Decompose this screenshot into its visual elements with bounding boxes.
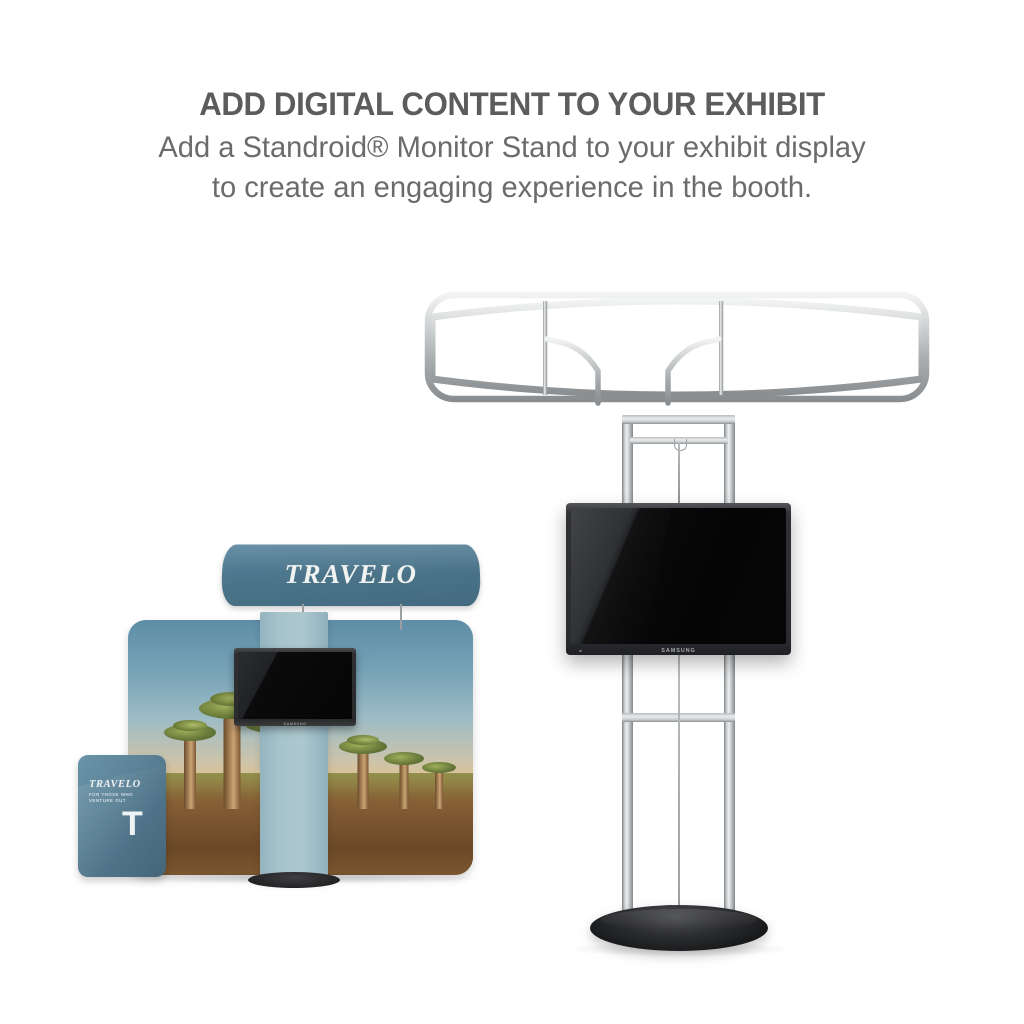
standroid-monitor-stand: SAMSUNG [418,275,938,965]
stand-oval-base [590,905,768,951]
cable-hook-icon [674,439,687,451]
stand-cable-upper [678,443,680,505]
header-frame [422,279,932,414]
booth-monitor: SAMSUNG [234,648,356,726]
booth-monitor-screen [238,652,352,719]
kiosk-tagline-line1: FOR THOSE WHO [89,792,133,797]
stand-post-right [724,415,735,915]
monitor-screen-glare [571,508,674,644]
booth-pillar-base [248,872,340,888]
monitor-screen [571,508,786,644]
stand-crossbar-top [622,415,735,424]
booth-header-sign-label: TRAVELO [284,559,418,590]
booth-monitor-brand-label: SAMSUNG [234,721,356,726]
booth-header-hanger-right [400,604,402,630]
monitor-brand-label: SAMSUNG [566,648,791,654]
kiosk-tagline: FOR THOSE WHO VENTURE OUT [89,792,155,805]
mounted-monitor: SAMSUNG [566,503,791,655]
booth-kiosk-panel: TRAVELO FOR THOSE WHO VENTURE OUT T [78,755,166,877]
stand-post-left [622,415,633,915]
kiosk-tagline-line2: VENTURE OUT [89,798,126,803]
kiosk-letter-mark: T [122,807,143,841]
kiosk-title: TRAVELO [89,779,141,790]
product-scene: TRAVELO [0,0,1024,1024]
